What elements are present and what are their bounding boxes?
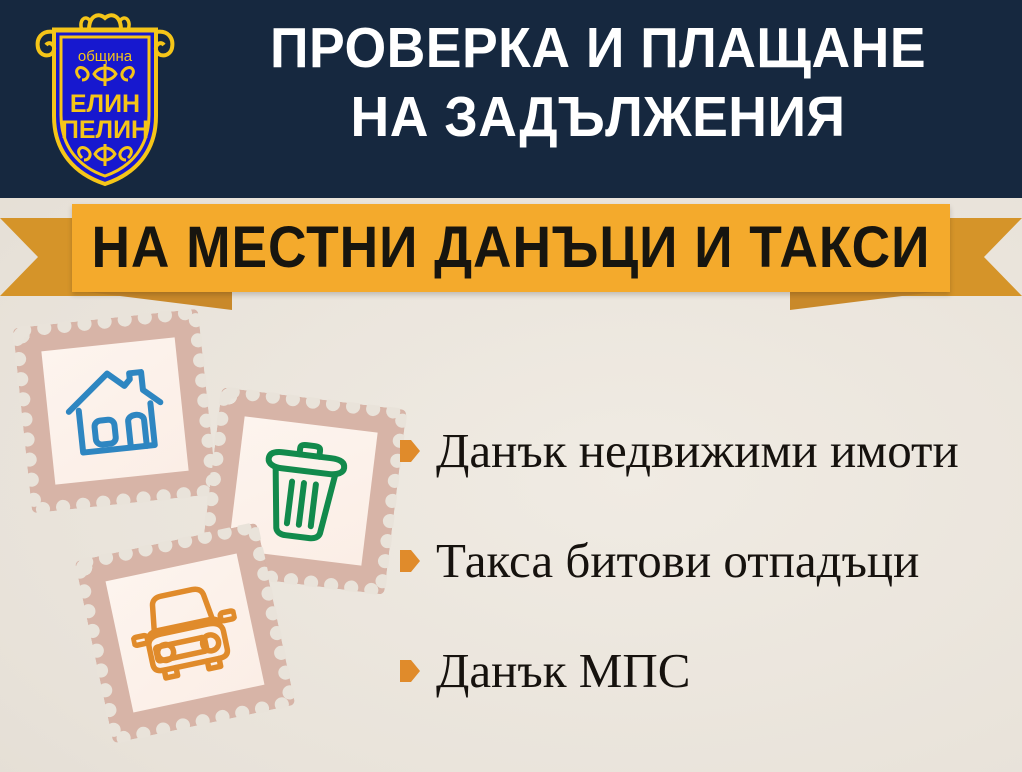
trash-bin-icon: [251, 436, 355, 546]
list-item-label: Данък недвижими имоти: [436, 424, 959, 477]
stamp-inner: [106, 554, 265, 713]
title-line-1: ПРОВЕРКА И ПЛАЩАНЕ: [211, 14, 986, 83]
list-item[interactable]: Данък МПС: [400, 644, 1015, 754]
subtitle-ribbon: НА МЕСТНИ ДАНЪЦИ И ТАКСИ: [0, 198, 1022, 316]
ribbon-bar: НА МЕСТНИ ДАНЪЦИ И ТАКСИ: [72, 204, 950, 292]
stamp-card-property-tax: [13, 309, 217, 513]
arrow-bullet-icon: [400, 660, 420, 682]
list-item-label: Такса битови отпадъци: [436, 534, 919, 587]
ribbon-fold-right: [790, 290, 950, 310]
title-line-2: НА ЗАДЪЛЖЕНИЯ: [211, 83, 986, 152]
arrow-bullet-icon: [400, 550, 420, 572]
ribbon-fold-left: [72, 290, 232, 310]
poster-canvas: община ЕЛИН ПЕЛИН: [0, 0, 1022, 772]
list-item[interactable]: Данък недвижими имоти: [400, 424, 1015, 534]
list-item-label: Данък МПС: [436, 644, 690, 697]
stamp-card-vehicle-tax: [75, 523, 296, 744]
crest-label-line-1: ЕЛИН: [70, 90, 140, 118]
arrow-bullet-icon: [400, 440, 420, 462]
header-banner: община ЕЛИН ПЕЛИН: [0, 0, 1022, 198]
list-item[interactable]: Такса битови отпадъци: [400, 534, 1015, 644]
tax-type-list: Данък недвижими имоти Такса битови отпад…: [400, 424, 1015, 754]
stamp-inner: [41, 337, 188, 484]
crest-label-top: община: [78, 48, 133, 65]
crest-label-line-2: ПЕЛИН: [61, 116, 149, 144]
coat-of-arms-logo: община ЕЛИН ПЕЛИН: [32, 8, 178, 190]
ribbon-text: НА МЕСТНИ ДАНЪЦИ И ТАКСИ: [92, 219, 931, 277]
house-icon: [58, 358, 171, 464]
page-title: ПРОВЕРКА И ПЛАЩАНЕ НА ЗАДЪЛЖЕНИЯ: [186, 14, 1010, 152]
car-icon: [123, 577, 248, 689]
